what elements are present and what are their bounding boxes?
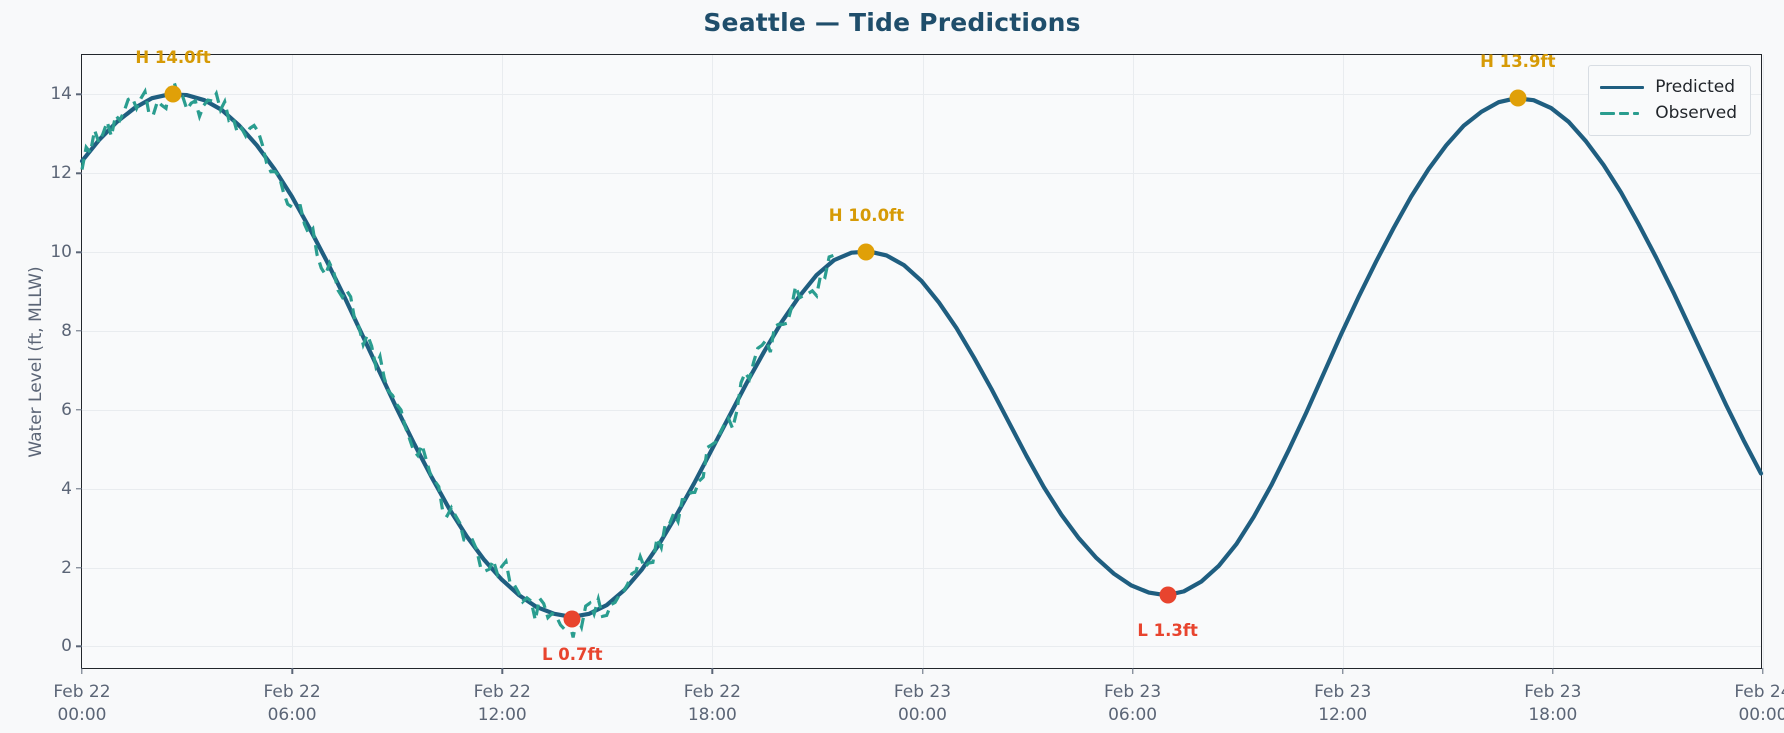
x-tick-label: Feb 2312:00 <box>1314 681 1371 727</box>
low-tide-marker <box>1159 587 1176 604</box>
y-tick-label: 0 <box>61 636 72 656</box>
low-tide-label: L 0.7ft <box>542 645 603 664</box>
low-tide-label: L 1.3ft <box>1137 621 1198 640</box>
observed-line <box>82 83 833 637</box>
legend-item[interactable]: Observed <box>1600 100 1737 126</box>
y-tick-label: 14 <box>50 84 72 104</box>
x-tick-mark <box>502 668 503 674</box>
legend-item[interactable]: Predicted <box>1600 74 1737 100</box>
x-tick-label: Feb 2200:00 <box>53 681 110 727</box>
legend-label: Predicted <box>1655 77 1735 97</box>
plot-frame: Water Level (ft, MLLW) 02468101214 Feb 2… <box>81 54 1762 669</box>
y-tick-label: 4 <box>61 479 72 499</box>
x-tick-time: 12:00 <box>478 705 527 725</box>
x-tick-date: Feb 23 <box>1104 682 1161 702</box>
x-tick-date: Feb 22 <box>53 682 110 702</box>
x-tick-date: Feb 23 <box>1314 682 1371 702</box>
x-tick-label: Feb 2400:00 <box>1734 681 1784 727</box>
legend: PredictedObserved <box>1588 65 1751 136</box>
x-tick-time: 00:00 <box>898 705 947 725</box>
page-title: Seattle — Tide Predictions <box>0 8 1784 37</box>
y-tick-label: 2 <box>61 558 72 578</box>
x-tick-mark <box>1342 668 1343 674</box>
x-tick-date: Feb 23 <box>1524 682 1581 702</box>
x-tick-date: Feb 23 <box>894 682 951 702</box>
x-tick-mark <box>1132 668 1133 674</box>
x-tick-date: Feb 22 <box>474 682 531 702</box>
low-tide-marker <box>564 610 581 627</box>
x-tick-mark <box>1762 668 1763 674</box>
gridline-vertical <box>1763 55 1764 668</box>
x-tick-time: 00:00 <box>57 705 106 725</box>
x-tick-date: Feb 22 <box>264 682 321 702</box>
high-tide-marker <box>165 86 182 103</box>
x-tick-time: 12:00 <box>1318 705 1367 725</box>
x-tick-label: Feb 2212:00 <box>474 681 531 727</box>
x-tick-time: 00:00 <box>1738 705 1784 725</box>
x-tick-label: Feb 2218:00 <box>684 681 741 727</box>
legend-swatch-predicted <box>1600 80 1644 94</box>
y-tick-label: 6 <box>61 400 72 420</box>
y-axis-label: Water Level (ft, MLLW) <box>26 266 46 457</box>
x-tick-time: 06:00 <box>1108 705 1157 725</box>
chart-figure: Seattle — Tide Predictions Water Level (… <box>0 0 1784 733</box>
x-tick-mark <box>291 668 292 674</box>
x-tick-label: Feb 2206:00 <box>264 681 321 727</box>
x-tick-date: Feb 24 <box>1734 682 1784 702</box>
predicted-line <box>82 94 1761 617</box>
x-tick-label: Feb 2306:00 <box>1104 681 1161 727</box>
legend-swatch-observed <box>1600 106 1644 120</box>
y-tick-label: 10 <box>50 242 72 262</box>
high-tide-marker <box>858 244 875 261</box>
x-tick-date: Feb 22 <box>684 682 741 702</box>
plot-lines <box>82 55 1761 668</box>
legend-label: Observed <box>1655 103 1737 123</box>
high-tide-label: H 13.9ft <box>1480 52 1555 71</box>
x-tick-time: 06:00 <box>268 705 317 725</box>
x-tick-time: 18:00 <box>688 705 737 725</box>
x-tick-time: 18:00 <box>1528 705 1577 725</box>
x-tick-mark <box>81 668 82 674</box>
x-tick-mark <box>712 668 713 674</box>
y-tick-label: 8 <box>61 321 72 341</box>
x-tick-mark <box>922 668 923 674</box>
high-tide-marker <box>1509 90 1526 107</box>
x-tick-label: Feb 2300:00 <box>894 681 951 727</box>
x-tick-label: Feb 2318:00 <box>1524 681 1581 727</box>
x-tick-mark <box>1552 668 1553 674</box>
high-tide-label: H 10.0ft <box>829 206 904 225</box>
y-tick-label: 12 <box>50 163 72 183</box>
high-tide-label: H 14.0ft <box>135 48 210 67</box>
